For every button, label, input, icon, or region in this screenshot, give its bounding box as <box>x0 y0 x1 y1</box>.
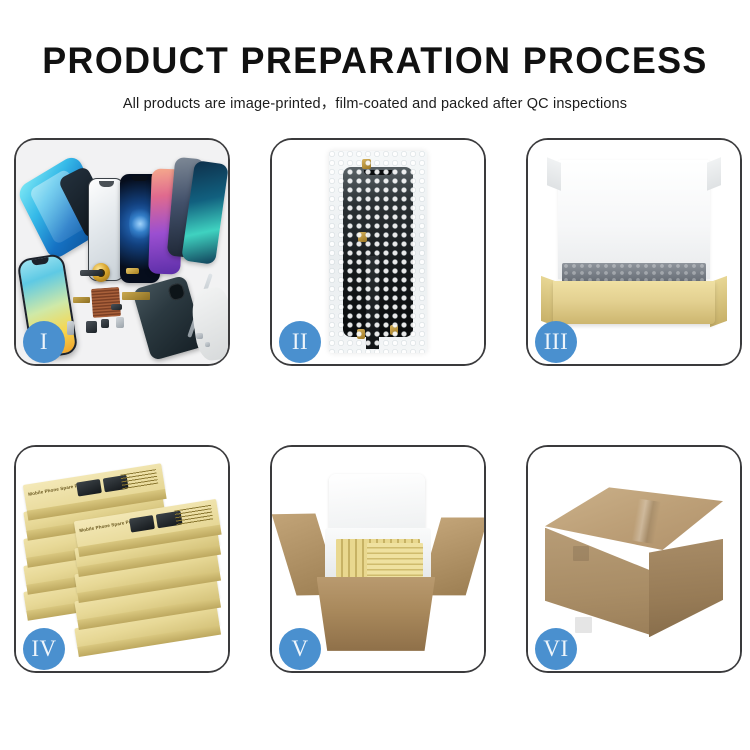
part-ribbon-icon <box>73 297 90 303</box>
part-sim-tray-icon <box>67 321 74 334</box>
carton-tab-lower-icon <box>575 617 592 633</box>
header: PRODUCT PREPARATION PROCESS All products… <box>0 0 750 113</box>
hand-icon <box>189 286 228 362</box>
part-flex-cable-icon <box>122 292 150 300</box>
bubble-wrap-bag-icon <box>329 151 427 353</box>
part-screw-icon <box>196 333 202 340</box>
part-chip-icon <box>80 270 103 276</box>
carton-body-icon <box>317 577 436 651</box>
foam-box-lid-icon <box>329 474 424 534</box>
part-shield-icon <box>111 304 122 311</box>
step-badge-5: V <box>279 628 321 670</box>
step-panel-4[interactable]: Mobile Phone Spare Parts Mobile Phone Sp… <box>14 445 230 673</box>
process-steps-grid: I II <box>14 138 737 673</box>
step-badge-2: II <box>279 321 321 363</box>
step-panel-3[interactable]: III <box>526 138 742 366</box>
box-lid-icon <box>558 160 711 279</box>
step-panel-5[interactable]: V <box>270 445 486 673</box>
carton-tab-upper-icon <box>573 546 590 562</box>
step-badge-1: I <box>23 321 65 363</box>
bubble-texture-icon <box>329 151 427 353</box>
part-connector-icon <box>126 268 139 275</box>
label-spec-lines-1-icon <box>121 469 160 491</box>
step-badge-4: IV <box>23 628 65 670</box>
page-subtitle: All products are image-printed，film-coat… <box>0 92 750 113</box>
part-bracket-icon <box>116 317 124 328</box>
step-panel-6[interactable]: VI <box>526 445 742 673</box>
label-spec-lines-2-icon <box>175 504 215 526</box>
step-panel-1[interactable]: I <box>14 138 230 366</box>
step-panel-2[interactable]: II <box>270 138 486 366</box>
label-phone-image-1-icon <box>77 479 103 497</box>
step-badge-6: VI <box>535 628 577 670</box>
carton-side-face-icon <box>649 539 723 638</box>
label-phone-image-3-icon <box>129 515 155 533</box>
page-title: PRODUCT PREPARATION PROCESS <box>11 42 739 79</box>
part-camera-icon <box>86 321 97 332</box>
inner-retail-boxes-stacked-icon <box>367 543 422 577</box>
logic-board-icon <box>91 287 121 318</box>
box-tray-icon <box>553 281 714 324</box>
step-badge-3: III <box>535 321 577 363</box>
product-preparation-infographic: PRODUCT PREPARATION PROCESS All products… <box>0 0 750 750</box>
part-button-icon <box>101 319 109 328</box>
